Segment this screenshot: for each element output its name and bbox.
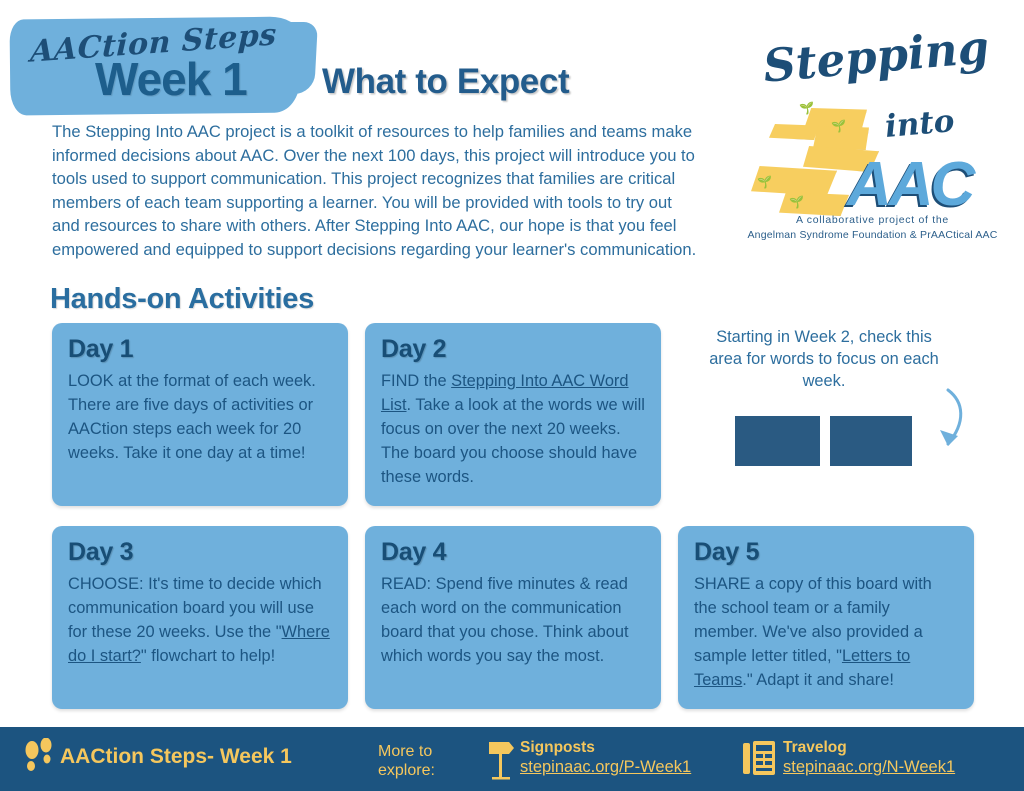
logo-word-stepping: Stepping [761, 20, 991, 93]
more-to-explore-line2: explore: [378, 761, 435, 780]
day-card-title: Day 2 [381, 335, 645, 364]
day-card-title: Day 4 [381, 538, 645, 567]
footer-link-name: Signposts [520, 739, 691, 757]
signpost-icon [487, 736, 515, 780]
newspaper-icon [742, 738, 776, 778]
word-placeholder-box-2 [830, 416, 912, 466]
day-card-title: Day 3 [68, 538, 332, 567]
callout-text: Starting in Week 2, check this area for … [708, 326, 940, 392]
day-card-5: Day 5 SHARE a copy of this board with th… [678, 526, 974, 709]
day-card-body: CHOOSE: It's time to decide which commun… [68, 572, 332, 668]
sprout-icon-3: 🌱 [757, 176, 772, 188]
day-card-3: Day 3 CHOOSE: It's time to decide which … [52, 526, 348, 709]
footprints-icon [24, 738, 54, 778]
banner-week-label: Week 1 [95, 52, 247, 106]
more-to-explore-label: More to explore: [378, 742, 435, 780]
logo-word-into: into [884, 103, 956, 145]
sprout-icon-1: 🌱 [799, 102, 814, 114]
day-card-body: READ: Spend five minutes & read each wor… [381, 572, 645, 668]
stepping-into-aac-logo: 🌱 🌱 🌱 🌱 Stepping into AAC A collaborativ… [735, 24, 1010, 254]
footer-link-url[interactable]: stepinaac.org/P-Week1 [520, 757, 691, 778]
activities-heading: Hands-on Activities [50, 283, 314, 316]
page-title: What to Expect [322, 62, 569, 102]
day-card-2: Day 2 FIND the Stepping Into AAC Word Li… [365, 323, 661, 506]
day-card-title: Day 1 [68, 335, 332, 364]
sprout-icon-2: 🌱 [831, 120, 846, 132]
logo-word-aac: AAC [847, 149, 972, 220]
day-card-1: Day 1 LOOK at the format of each week. T… [52, 323, 348, 506]
more-to-explore-line1: More to [378, 742, 435, 761]
day-card-body: LOOK at the format of each week. There a… [68, 369, 332, 465]
word-placeholder-box-1 [735, 416, 820, 466]
logo-subtitle-line2: Angelman Syndrome Foundation & PrAACtica… [735, 229, 1010, 241]
footer-link-travelog[interactable]: Travelog stepinaac.org/N-Week1 [783, 739, 955, 778]
day-card-body: FIND the Stepping Into AAC Word List. Ta… [381, 369, 645, 489]
logo-subtitle-line1: A collaborative project of the [735, 214, 1010, 226]
footer-title: AACtion Steps- Week 1 [60, 745, 292, 769]
footer-link-name: Travelog [783, 739, 955, 757]
curved-arrow-icon [918, 386, 978, 456]
footer-link-url[interactable]: stepinaac.org/N-Week1 [783, 757, 955, 778]
sprout-icon-4: 🌱 [789, 196, 804, 208]
stone-icon-2 [769, 124, 819, 140]
footer-link-signposts[interactable]: Signposts stepinaac.org/P-Week1 [520, 739, 691, 778]
day-card-title: Day 5 [694, 538, 958, 567]
intro-paragraph: The Stepping Into AAC project is a toolk… [52, 120, 697, 261]
day-card-4: Day 4 READ: Spend five minutes & read ea… [365, 526, 661, 709]
day-card-body: SHARE a copy of this board with the scho… [694, 572, 958, 692]
